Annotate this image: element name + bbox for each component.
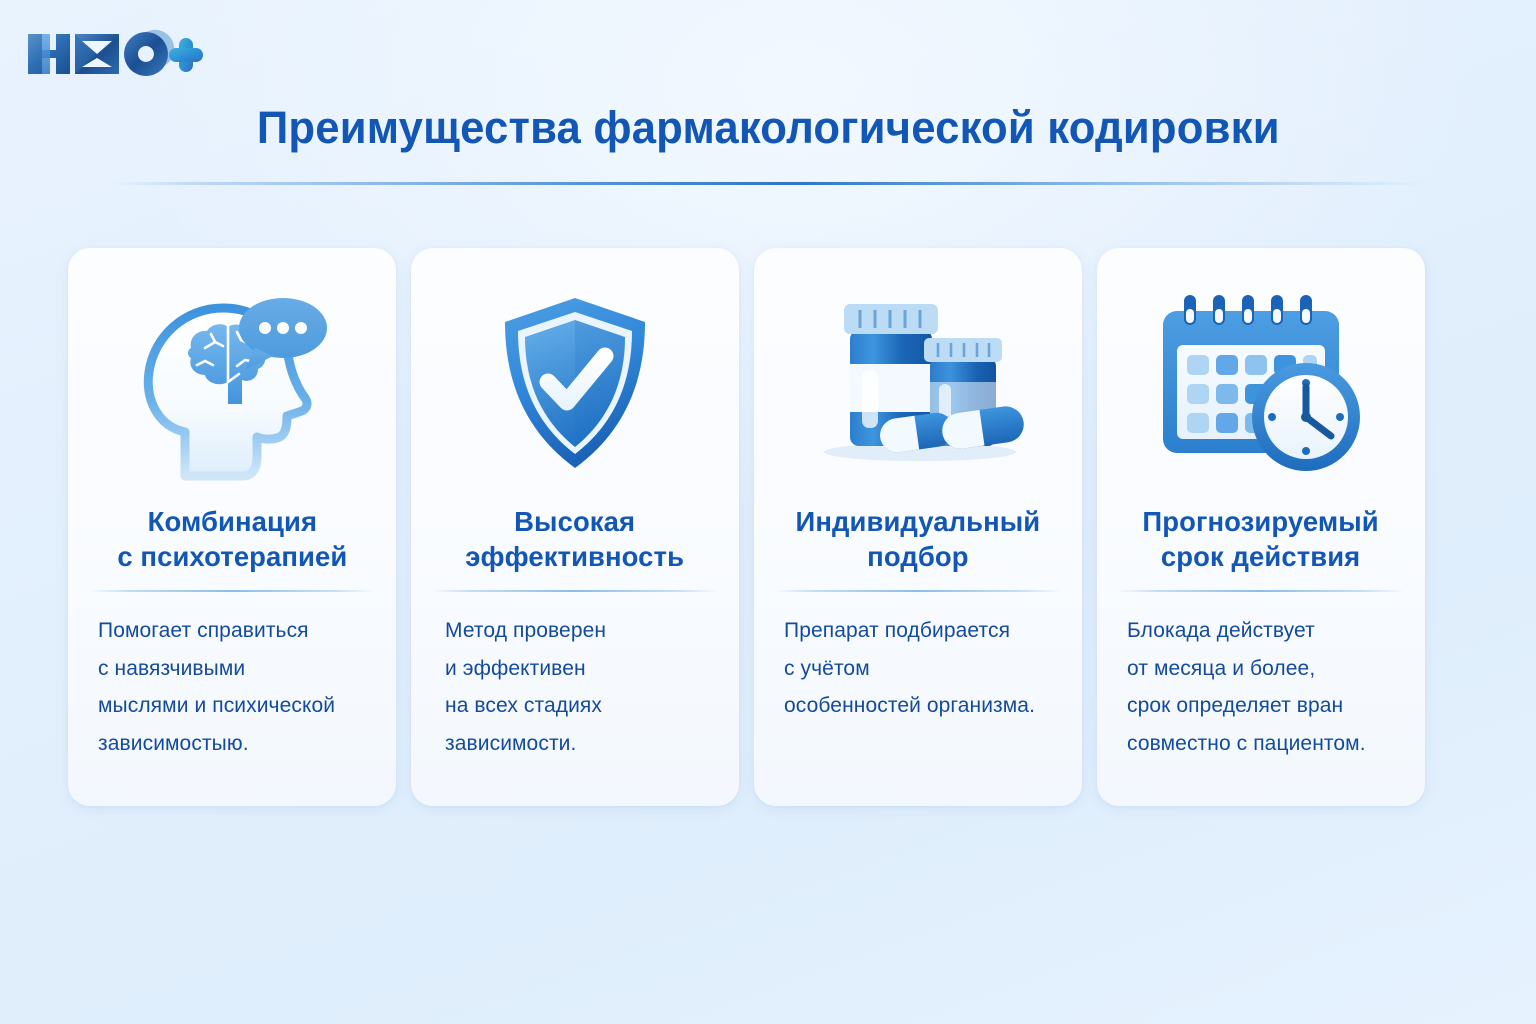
card-heading-line: Индивидуальный bbox=[796, 506, 1041, 537]
card-divider bbox=[1118, 590, 1404, 592]
card-body: Помогает справиться с навязчивыми мыслям… bbox=[68, 612, 396, 762]
card-divider bbox=[432, 590, 718, 592]
card-body-line: совместно с пациентом. bbox=[1127, 732, 1366, 755]
card-body-line: с учётом bbox=[784, 657, 870, 680]
card-icon-wrap bbox=[1151, 276, 1371, 491]
card-body-line: Блокада действует bbox=[1127, 619, 1315, 642]
card-body-line: Метод проверен bbox=[445, 619, 606, 642]
card-body-line: Препарат подбирается bbox=[784, 619, 1010, 642]
card-body: Блокада действует от месяца и более, сро… bbox=[1097, 612, 1425, 762]
shield-check-icon bbox=[485, 286, 665, 481]
benefit-card-individual-selection[interactable]: Индивидуальный подбор Препарат подбирает… bbox=[754, 248, 1082, 806]
benefit-card-psychotherapy[interactable]: Комбинация с психотерапией Помогает спра… bbox=[68, 248, 396, 806]
infographic-page: Преимущества фармакологической кодировки bbox=[0, 0, 1536, 1024]
card-body-line: на всех стадиях bbox=[445, 694, 602, 717]
card-body-line: зависимостыю. bbox=[98, 732, 249, 755]
page-title: Преимущества фармакологической кодировки bbox=[257, 104, 1280, 152]
card-icon-wrap bbox=[808, 276, 1028, 491]
card-heading: Прогнозируемый срок действия bbox=[1131, 505, 1391, 574]
card-body: Метод проверен и эффективен на всех стад… bbox=[411, 612, 739, 762]
card-heading-line: Комбинация bbox=[147, 506, 316, 537]
card-heading: Высокая эффективность bbox=[454, 505, 696, 574]
pill-bottles-capsules-icon bbox=[808, 286, 1028, 481]
card-body-line: мыслями и психической bbox=[98, 694, 335, 717]
card-heading-line: эффективность bbox=[466, 541, 685, 572]
benefit-card-predictable-duration[interactable]: Прогнозируемый срок действия Блокада дей… bbox=[1097, 248, 1425, 806]
card-body-line: и эффективен bbox=[445, 657, 586, 680]
card-heading-line: Высокая bbox=[515, 506, 636, 537]
neo-plus-logo-icon bbox=[18, 22, 218, 84]
title-divider bbox=[112, 182, 1424, 185]
card-body-line: от месяца и более, bbox=[1127, 657, 1315, 680]
card-icon-wrap bbox=[127, 276, 337, 491]
page-title-wrap: Преимущества фармакологической кодировки bbox=[0, 104, 1536, 152]
card-body-line: особенностей организма. bbox=[784, 694, 1035, 717]
brand-logo[interactable] bbox=[18, 22, 218, 84]
benefit-cards: Комбинация с психотерапией Помогает спра… bbox=[68, 248, 1468, 808]
card-body-line: с навязчивыми bbox=[98, 657, 245, 680]
card-divider bbox=[89, 590, 375, 592]
card-icon-wrap bbox=[485, 276, 665, 491]
card-body: Препарат подбирается с учётом особенност… bbox=[754, 612, 1082, 724]
card-heading-line: с психотерапией bbox=[117, 541, 347, 572]
card-heading: Комбинация с психотерапией bbox=[105, 505, 359, 574]
card-body-line: срок определяет вран bbox=[1127, 694, 1343, 717]
card-heading: Индивидуальный подбор bbox=[784, 505, 1052, 574]
calendar-clock-icon bbox=[1151, 289, 1371, 479]
benefit-card-effectiveness[interactable]: Высокая эффективность Метод проверен и э… bbox=[411, 248, 739, 806]
card-heading-line: срок действия bbox=[1161, 541, 1360, 572]
card-body-line: Помогает справиться bbox=[98, 619, 309, 642]
card-body-line: зависимости. bbox=[445, 732, 576, 755]
card-heading-line: Прогнозируемый bbox=[1143, 506, 1379, 537]
card-heading-line: подбор bbox=[867, 541, 968, 572]
head-brain-speech-bubble-icon bbox=[127, 286, 337, 481]
card-divider bbox=[775, 590, 1061, 592]
